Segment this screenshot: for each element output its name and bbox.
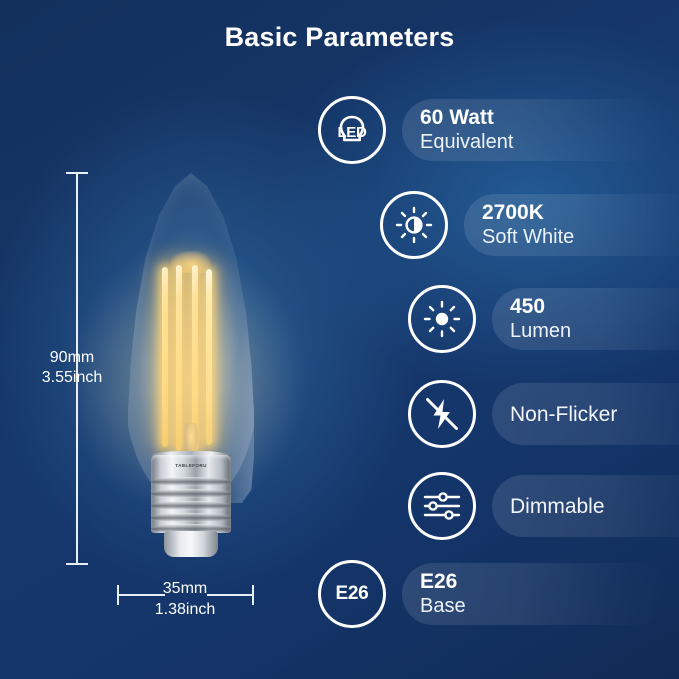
feature-title: Dimmable: [510, 494, 679, 519]
height-mm: 90mm: [8, 348, 136, 368]
width-dimension-label: 35mm 1.38inch: [112, 578, 258, 620]
base-thread: [151, 513, 231, 522]
base-thread: [151, 477, 231, 486]
base-contact-tip: [164, 531, 218, 557]
height-dimension-label: 90mm 3.55inch: [8, 348, 136, 388]
feature-pill-color-temperature: 2700K Soft White: [464, 194, 679, 256]
feature-pill-wattage: 60 Watt Equivalent: [402, 99, 666, 161]
feature-item-lumen[interactable]: 450 Lumen: [408, 283, 679, 355]
feature-item-wattage[interactable]: LED 60 Watt Equivalent: [318, 94, 666, 166]
height-dimension-cap-top: [66, 172, 88, 174]
brightness-sun-icon: [408, 285, 476, 353]
feature-pill-non-flicker: Non-Flicker: [492, 383, 679, 445]
e26-icon-label: E26: [336, 583, 369, 605]
color-temperature-icon: [380, 191, 448, 259]
base-thread: [151, 501, 231, 510]
feature-subtitle: Lumen: [510, 319, 679, 344]
width-mm: 35mm: [112, 578, 258, 599]
feature-item-base[interactable]: E26 E26 Base: [318, 558, 670, 630]
feature-subtitle: Equivalent: [420, 130, 640, 155]
feature-pill-lumen: 450 Lumen: [492, 288, 679, 350]
base-brand-text: TABLEFORU: [151, 463, 231, 468]
led-icon-label: LED: [321, 99, 383, 163]
feature-item-dimmable[interactable]: Dimmable: [408, 470, 679, 542]
page-title: Basic Parameters: [0, 22, 679, 53]
feature-item-non-flicker[interactable]: Non-Flicker: [408, 378, 679, 450]
feature-title: 60 Watt: [420, 105, 640, 130]
feature-title: E26: [420, 569, 644, 594]
height-dimension-cap-bottom: [66, 563, 88, 565]
infographic-canvas: Basic Parameters TABLEFORU 90mm 3.55inch: [0, 0, 679, 679]
dimmer-sliders-icon: [408, 472, 476, 540]
feature-pill-base: E26 Base: [402, 563, 670, 625]
e26-base-icon: E26: [318, 560, 386, 628]
led-bulb-icon: LED: [318, 96, 386, 164]
feature-subtitle: Soft White: [482, 225, 679, 250]
feature-subtitle: Base: [420, 594, 644, 619]
screw-base-e26: TABLEFORU: [151, 455, 231, 533]
feature-title: 450: [510, 294, 679, 319]
width-inch: 1.38inch: [112, 599, 258, 620]
feature-title: Non-Flicker: [510, 402, 679, 427]
height-inch: 3.55inch: [8, 368, 136, 388]
feature-pill-dimmable: Dimmable: [492, 475, 679, 537]
feature-item-color-temperature[interactable]: 2700K Soft White: [380, 189, 679, 261]
feature-title: 2700K: [482, 200, 679, 225]
base-thread: [151, 489, 231, 498]
no-flicker-icon: [408, 380, 476, 448]
